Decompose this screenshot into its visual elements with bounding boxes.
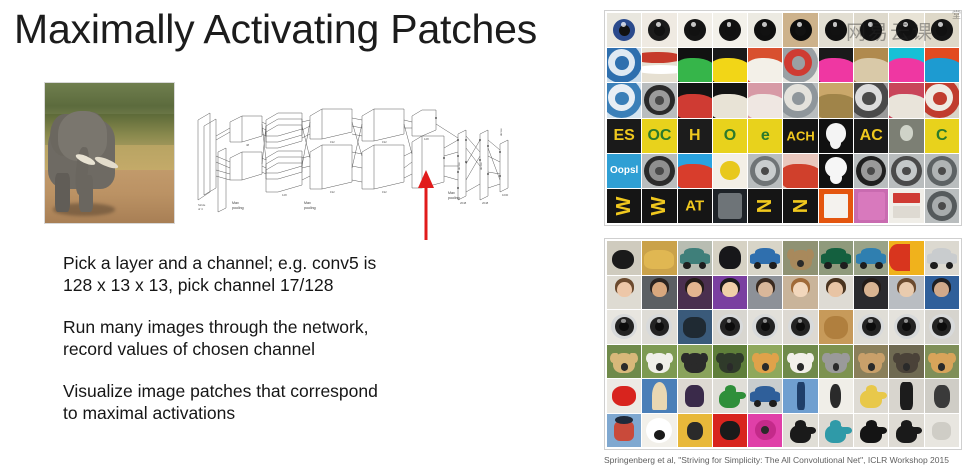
cnn-size-1000: 1000: [502, 193, 509, 197]
image-patch: [854, 345, 888, 379]
patch-text: H: [689, 128, 701, 144]
patch-shape: [642, 65, 676, 74]
patch-shape: [860, 262, 868, 269]
image-patch: [607, 276, 641, 310]
image-patch: [925, 48, 959, 82]
patch-shape: [875, 262, 883, 269]
image-patch: [713, 345, 747, 379]
patch-text: AT: [685, 198, 704, 213]
patch-shape: [833, 22, 838, 27]
image-patch: [854, 276, 888, 310]
patch-shape: [681, 353, 689, 364]
cnn-size-2048b: 2048: [482, 201, 489, 205]
image-patch: [748, 345, 782, 379]
patch-shape: [758, 282, 773, 297]
patch-shape: [787, 353, 795, 364]
image-patch: [678, 345, 712, 379]
image-patch: [748, 310, 782, 344]
image-patch: [607, 48, 641, 82]
patch-shape: [755, 386, 775, 395]
elephant-leg-front: [55, 173, 69, 212]
patch-shape: [913, 353, 921, 364]
patch-shape: [889, 244, 910, 271]
patch-shape: [642, 52, 676, 64]
cnn-size-192c: 192: [382, 140, 387, 144]
patch-shape: [736, 353, 744, 364]
patch-text: W: [614, 196, 634, 215]
cnn-label-maxpool-2: Max: [304, 201, 311, 205]
patch-shape: [938, 167, 946, 175]
patch-shape: [610, 353, 618, 364]
image-patch: N: [748, 189, 782, 223]
patch-shape: [932, 248, 952, 257]
patch-grid-bottom: [604, 238, 962, 450]
patch-shape: [610, 298, 637, 309]
image-patch: [642, 310, 676, 344]
patch-shape: [858, 353, 866, 364]
patch-shape: [843, 427, 852, 434]
patch-shape: [842, 353, 850, 364]
image-patch: [713, 83, 747, 117]
patch-shape: [783, 164, 817, 188]
image-patch: N: [783, 189, 817, 223]
patch-shape: [830, 136, 841, 148]
image-patch: [748, 13, 782, 47]
image-patch: [783, 345, 817, 379]
patch-shape: [769, 400, 777, 407]
patch-shape: [752, 353, 760, 364]
patch-shape: [793, 282, 808, 297]
patch-shape: [691, 363, 698, 370]
cnn-size-192: 192: [330, 140, 335, 144]
patch-shape: [902, 167, 910, 175]
cnn-size-192d: 192: [382, 190, 387, 194]
image-patch: [783, 48, 817, 82]
image-patch: [889, 241, 923, 275]
patch-text: ES: [613, 128, 634, 144]
cnn-label-dense-3: dense: [499, 128, 503, 136]
image-patch: [889, 48, 923, 82]
patch-shape: [858, 298, 885, 309]
patch-shape: [903, 22, 908, 27]
patch-shape: [830, 420, 841, 429]
patch-text: N: [755, 199, 775, 213]
cnn-size-192b: 192: [330, 190, 335, 194]
bullet-list: Pick a layer and a channel; e.g. conv5 i…: [63, 252, 463, 424]
image-patch: [642, 48, 676, 82]
citation-text: Springenberg et al, "Striving for Simpli…: [604, 455, 949, 465]
image-patch: [783, 154, 817, 188]
image-patch: [925, 310, 959, 344]
page-title: Maximally Activating Patches: [14, 6, 537, 53]
patch-shape: [748, 58, 782, 82]
patch-shape: [772, 353, 780, 364]
image-patch: [678, 154, 712, 188]
image-patch: [607, 13, 641, 47]
image-patch: [854, 83, 888, 117]
image-patch: ES: [607, 119, 641, 153]
image-patch: [678, 276, 712, 310]
patch-shape: [617, 282, 632, 297]
image-patch: [889, 414, 923, 448]
patch-shape: [683, 262, 691, 269]
image-patch: [783, 310, 817, 344]
image-patch: [783, 414, 817, 448]
image-patch: Oopsl: [607, 154, 641, 188]
image-patch: [819, 13, 853, 47]
image-patch: W: [642, 189, 676, 223]
image-patch: AT: [678, 189, 712, 223]
image-patch: [678, 379, 712, 413]
patch-shape: [822, 353, 830, 364]
patch-shape: [655, 96, 663, 104]
image-patch: ACH: [783, 119, 817, 153]
image-patch: [889, 83, 923, 117]
patch-shape: [840, 262, 848, 269]
image-patch: [854, 310, 888, 344]
patch-shape: [687, 422, 703, 441]
image-patch: [678, 241, 712, 275]
image-patch: [889, 276, 923, 310]
image-patch: [748, 154, 782, 188]
image-patch: [925, 13, 959, 47]
patch-shape: [864, 282, 879, 297]
patch-shape: [701, 353, 709, 364]
image-patch: [713, 310, 747, 344]
patch-shape: [720, 421, 739, 440]
patch-shape: [934, 385, 950, 408]
patch-text: W: [649, 196, 669, 215]
patch-shape: [718, 193, 741, 219]
patch-shape: [654, 430, 665, 440]
image-patch: [748, 241, 782, 275]
cnn-size-2048: 2048: [460, 201, 467, 205]
image-patch: [607, 345, 641, 379]
patch-shape: [716, 298, 743, 309]
patch-shape: [854, 58, 888, 82]
patch-shape: [713, 58, 747, 82]
patch-text: ACH: [787, 129, 815, 142]
image-patch: [607, 83, 641, 117]
patch-shape: [722, 282, 737, 297]
patch-shape: [678, 58, 712, 82]
image-patch: [925, 379, 959, 413]
bullet-item-2: Run many images through the network, rec…: [63, 316, 463, 360]
patch-shape: [687, 282, 702, 297]
patch-shape: [678, 94, 712, 118]
patch-shape: [797, 382, 805, 410]
patch-shape: [621, 363, 628, 370]
image-patch: [854, 379, 888, 413]
patch-shape: [934, 282, 949, 297]
image-patch: [925, 83, 959, 117]
patch-shape: [824, 316, 848, 339]
patch-shape: [833, 363, 840, 370]
patch-shape: [948, 353, 956, 364]
patch-shape: [755, 248, 775, 257]
patch-shape: [830, 384, 841, 407]
patch-shape: [754, 262, 762, 269]
image-patch: [713, 241, 747, 275]
image-patch: [925, 189, 959, 223]
patch-shape: [787, 249, 795, 260]
image-patch: [748, 379, 782, 413]
image-patch: [819, 189, 853, 223]
image-patch: [642, 414, 676, 448]
image-patch: [713, 154, 747, 188]
patch-text: AC: [860, 128, 883, 144]
image-patch: [642, 345, 676, 379]
image-patch: [713, 414, 747, 448]
patch-shape: [822, 298, 849, 309]
image-patch: [925, 345, 959, 379]
patch-shape: [824, 262, 832, 269]
patch-text: OC: [647, 128, 671, 144]
patch-shape: [685, 385, 704, 407]
patch-shape: [807, 353, 815, 364]
image-patch: [748, 276, 782, 310]
image-patch: [607, 379, 641, 413]
image-patch: [854, 48, 888, 82]
image-patch: [889, 379, 923, 413]
cnn-size-48: 48: [246, 143, 250, 147]
image-patch: [678, 13, 712, 47]
patch-shape: [824, 194, 847, 219]
patch-shape: [612, 250, 634, 269]
image-patch: [819, 154, 853, 188]
elephant-photo: [44, 82, 175, 224]
patch-shape: [666, 353, 674, 364]
patch-shape: [683, 317, 706, 338]
image-patch: [678, 83, 712, 117]
patch-shape: [900, 125, 914, 141]
patch-shape: [925, 58, 959, 82]
patch-shape: [893, 298, 920, 309]
patch-shape: [889, 58, 923, 82]
patch-shape: [713, 94, 747, 118]
cnn-label-maxpool-1: Max: [232, 201, 239, 205]
patch-shape: [646, 353, 654, 364]
patch-shape: [938, 202, 946, 210]
image-patch: [819, 241, 853, 275]
bullet-item-1: Pick a layer and a channel; e.g. conv5 i…: [63, 252, 463, 296]
image-patch: [713, 48, 747, 82]
patch-text: O: [724, 128, 736, 144]
image-patch: e: [748, 119, 782, 153]
image-patch: O: [713, 119, 747, 153]
cnn-label-dense-2: dense: [479, 162, 483, 170]
patch-shape: [933, 92, 947, 106]
patch-text: N: [791, 199, 811, 213]
patch-shape: [878, 427, 887, 434]
patch-shape: [716, 353, 724, 364]
image-patch: [783, 13, 817, 47]
patch-shape: [656, 363, 663, 370]
patch-text: Oopsl: [610, 166, 638, 176]
image-patch: [642, 276, 676, 310]
image-patch: [819, 276, 853, 310]
patch-shape: [691, 22, 696, 27]
patch-shape: [720, 161, 739, 180]
image-patch: [642, 154, 676, 188]
patch-shape: [752, 298, 779, 309]
cnn-architecture-diagram: Max pooling Max pooling Max pooling Stri…: [196, 96, 514, 214]
image-patch: [925, 276, 959, 310]
image-patch: [889, 154, 923, 188]
image-patch: [854, 414, 888, 448]
image-patch: [783, 83, 817, 117]
patch-grid-top: ESOCHOeACHACCOopslWWATNN: [604, 10, 962, 226]
patch-shape: [899, 282, 914, 297]
image-patch: [783, 276, 817, 310]
patch-shape: [621, 22, 626, 27]
patch-shape: [795, 420, 806, 429]
patch-shape: [681, 298, 708, 309]
image-patch: [889, 345, 923, 379]
image-patch: [607, 414, 641, 448]
cnn-label-maxpool-3b: pooling: [448, 196, 460, 200]
patch-shape: [893, 206, 920, 218]
image-patch: [678, 414, 712, 448]
cnn-label-maxpool-3: Max: [448, 191, 455, 195]
image-patch: [713, 189, 747, 223]
image-patch: [642, 241, 676, 275]
patch-shape: [946, 262, 954, 269]
patch-shape: [826, 248, 846, 257]
cnn-label-maxpool-2b: pooling: [304, 206, 316, 210]
patch-shape: [866, 385, 877, 394]
patch-shape: [727, 22, 732, 27]
patch-text: e: [761, 128, 770, 144]
patch-shape: [630, 353, 638, 364]
patch-shape: [819, 94, 853, 118]
image-patch: [819, 379, 853, 413]
patch-shape: [877, 353, 885, 364]
patch-shape: [807, 249, 815, 260]
patch-shape: [858, 192, 885, 219]
patch-shape: [937, 322, 947, 331]
patch-shape: [769, 262, 777, 269]
patch-shape: [928, 298, 955, 309]
patch-shape: [621, 319, 625, 323]
patch-shape: [862, 92, 876, 106]
patch-shape: [797, 363, 804, 370]
image-patch: [925, 414, 959, 448]
image-patch: [713, 13, 747, 47]
cnn-diagram-svg: Max pooling Max pooling Max pooling Stri…: [196, 96, 514, 214]
image-patch: [607, 241, 641, 275]
patch-shape: [903, 363, 910, 370]
image-patch: [607, 310, 641, 344]
patch-shape: [932, 422, 951, 439]
image-patch: [889, 310, 923, 344]
patch-shape: [938, 363, 945, 370]
red-arrow-icon: [417, 170, 435, 240]
patch-text: C: [936, 128, 948, 144]
patch-shape: [762, 22, 767, 27]
patch-shape: [893, 193, 920, 203]
image-patch: [783, 241, 817, 275]
patch-shape: [737, 392, 746, 399]
patch-shape: [938, 22, 943, 27]
image-patch: [783, 379, 817, 413]
patch-shape: [866, 420, 877, 429]
image-patch: [642, 379, 676, 413]
patch-shape: [762, 363, 769, 370]
cnn-label-stride-b: of 4: [198, 207, 203, 211]
conv5-pointer-arrow: [417, 170, 435, 240]
patch-shape: [889, 94, 923, 118]
patch-shape: [727, 363, 734, 370]
patch-shape: [678, 164, 712, 188]
image-patch: [748, 414, 782, 448]
patch-shape: [900, 382, 914, 409]
cnn-label-maxpool-1b: pooling: [232, 206, 244, 210]
image-patch: C: [925, 119, 959, 153]
patch-shape: [868, 363, 875, 370]
patch-shape: [612, 386, 636, 406]
patch-shape: [893, 353, 901, 364]
patch-shape: [861, 248, 881, 257]
cnn-label-dense-1: dense: [457, 162, 461, 170]
image-patch: [925, 154, 959, 188]
patch-shape: [684, 248, 704, 257]
patch-shape: [652, 282, 667, 297]
patch-shape: [930, 262, 938, 269]
image-patch: W: [607, 189, 641, 223]
image-patch: [642, 13, 676, 47]
patch-shape: [615, 56, 629, 70]
patch-shape: [646, 298, 673, 309]
patch-shape: [725, 385, 736, 394]
image-patch: [854, 189, 888, 223]
image-patch: [854, 13, 888, 47]
cnn-size-128b: 128: [424, 137, 429, 141]
patch-shape: [819, 58, 853, 82]
image-patch: OC: [642, 119, 676, 153]
cnn-size-128: 128: [282, 193, 287, 197]
image-patch: [889, 13, 923, 47]
image-patch: [819, 83, 853, 117]
image-patch: [819, 310, 853, 344]
image-patch: [678, 48, 712, 82]
image-patch: [819, 48, 853, 82]
image-patch: [713, 379, 747, 413]
image-patch: [889, 189, 923, 223]
bullet-item-3: Visualize image patches that correspond …: [63, 380, 463, 424]
image-patch: [678, 310, 712, 344]
patch-shape: [615, 92, 629, 106]
patch-shape: [830, 172, 842, 184]
patch-shape: [699, 262, 707, 269]
image-patch: [748, 83, 782, 117]
patch-shape: [787, 298, 814, 309]
image-patch: [854, 241, 888, 275]
image-patch: [819, 414, 853, 448]
image-patch: H: [678, 119, 712, 153]
patch-shape: [719, 246, 741, 269]
patch-shape: [913, 427, 922, 434]
image-patch: AC: [854, 119, 888, 153]
patch-shape: [797, 22, 802, 27]
image-patch: [854, 154, 888, 188]
patch-shape: [878, 392, 887, 399]
image-patch: [925, 241, 959, 275]
image-patch: [713, 276, 747, 310]
patch-shape: [901, 420, 912, 429]
patch-shape: [656, 22, 661, 27]
image-patch: [642, 83, 676, 117]
